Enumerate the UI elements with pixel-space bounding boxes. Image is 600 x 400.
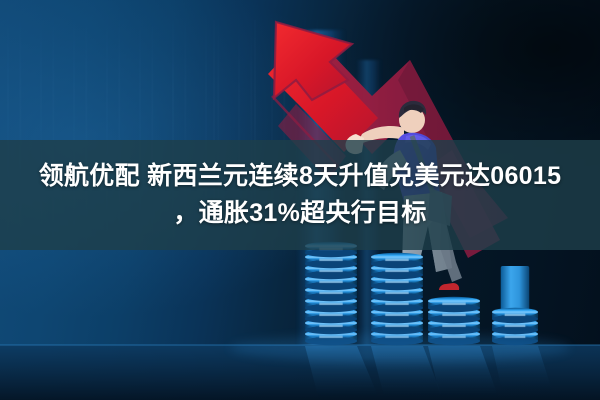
coin-stacks [305, 242, 538, 345]
coin-stack-2 [371, 253, 423, 345]
coin-stack-bar [501, 266, 530, 312]
headline: 领航优配 新西兰元连续8天升值兑美元达06015 ，通胀31%超央行目标 [0, 140, 600, 250]
headline-line-1: 领航优配 新西兰元连续8天升值兑美元达06015 [39, 158, 562, 195]
coin-stack-4 [492, 266, 538, 345]
headline-line-2: ，通胀31%超央行目标 [173, 195, 426, 232]
news-banner-image: 领航优配 新西兰元连续8天升值兑美元达06015 ，通胀31%超央行目标 [0, 0, 600, 400]
floor-glow [230, 334, 570, 362]
coin-stack-1 [305, 242, 357, 345]
